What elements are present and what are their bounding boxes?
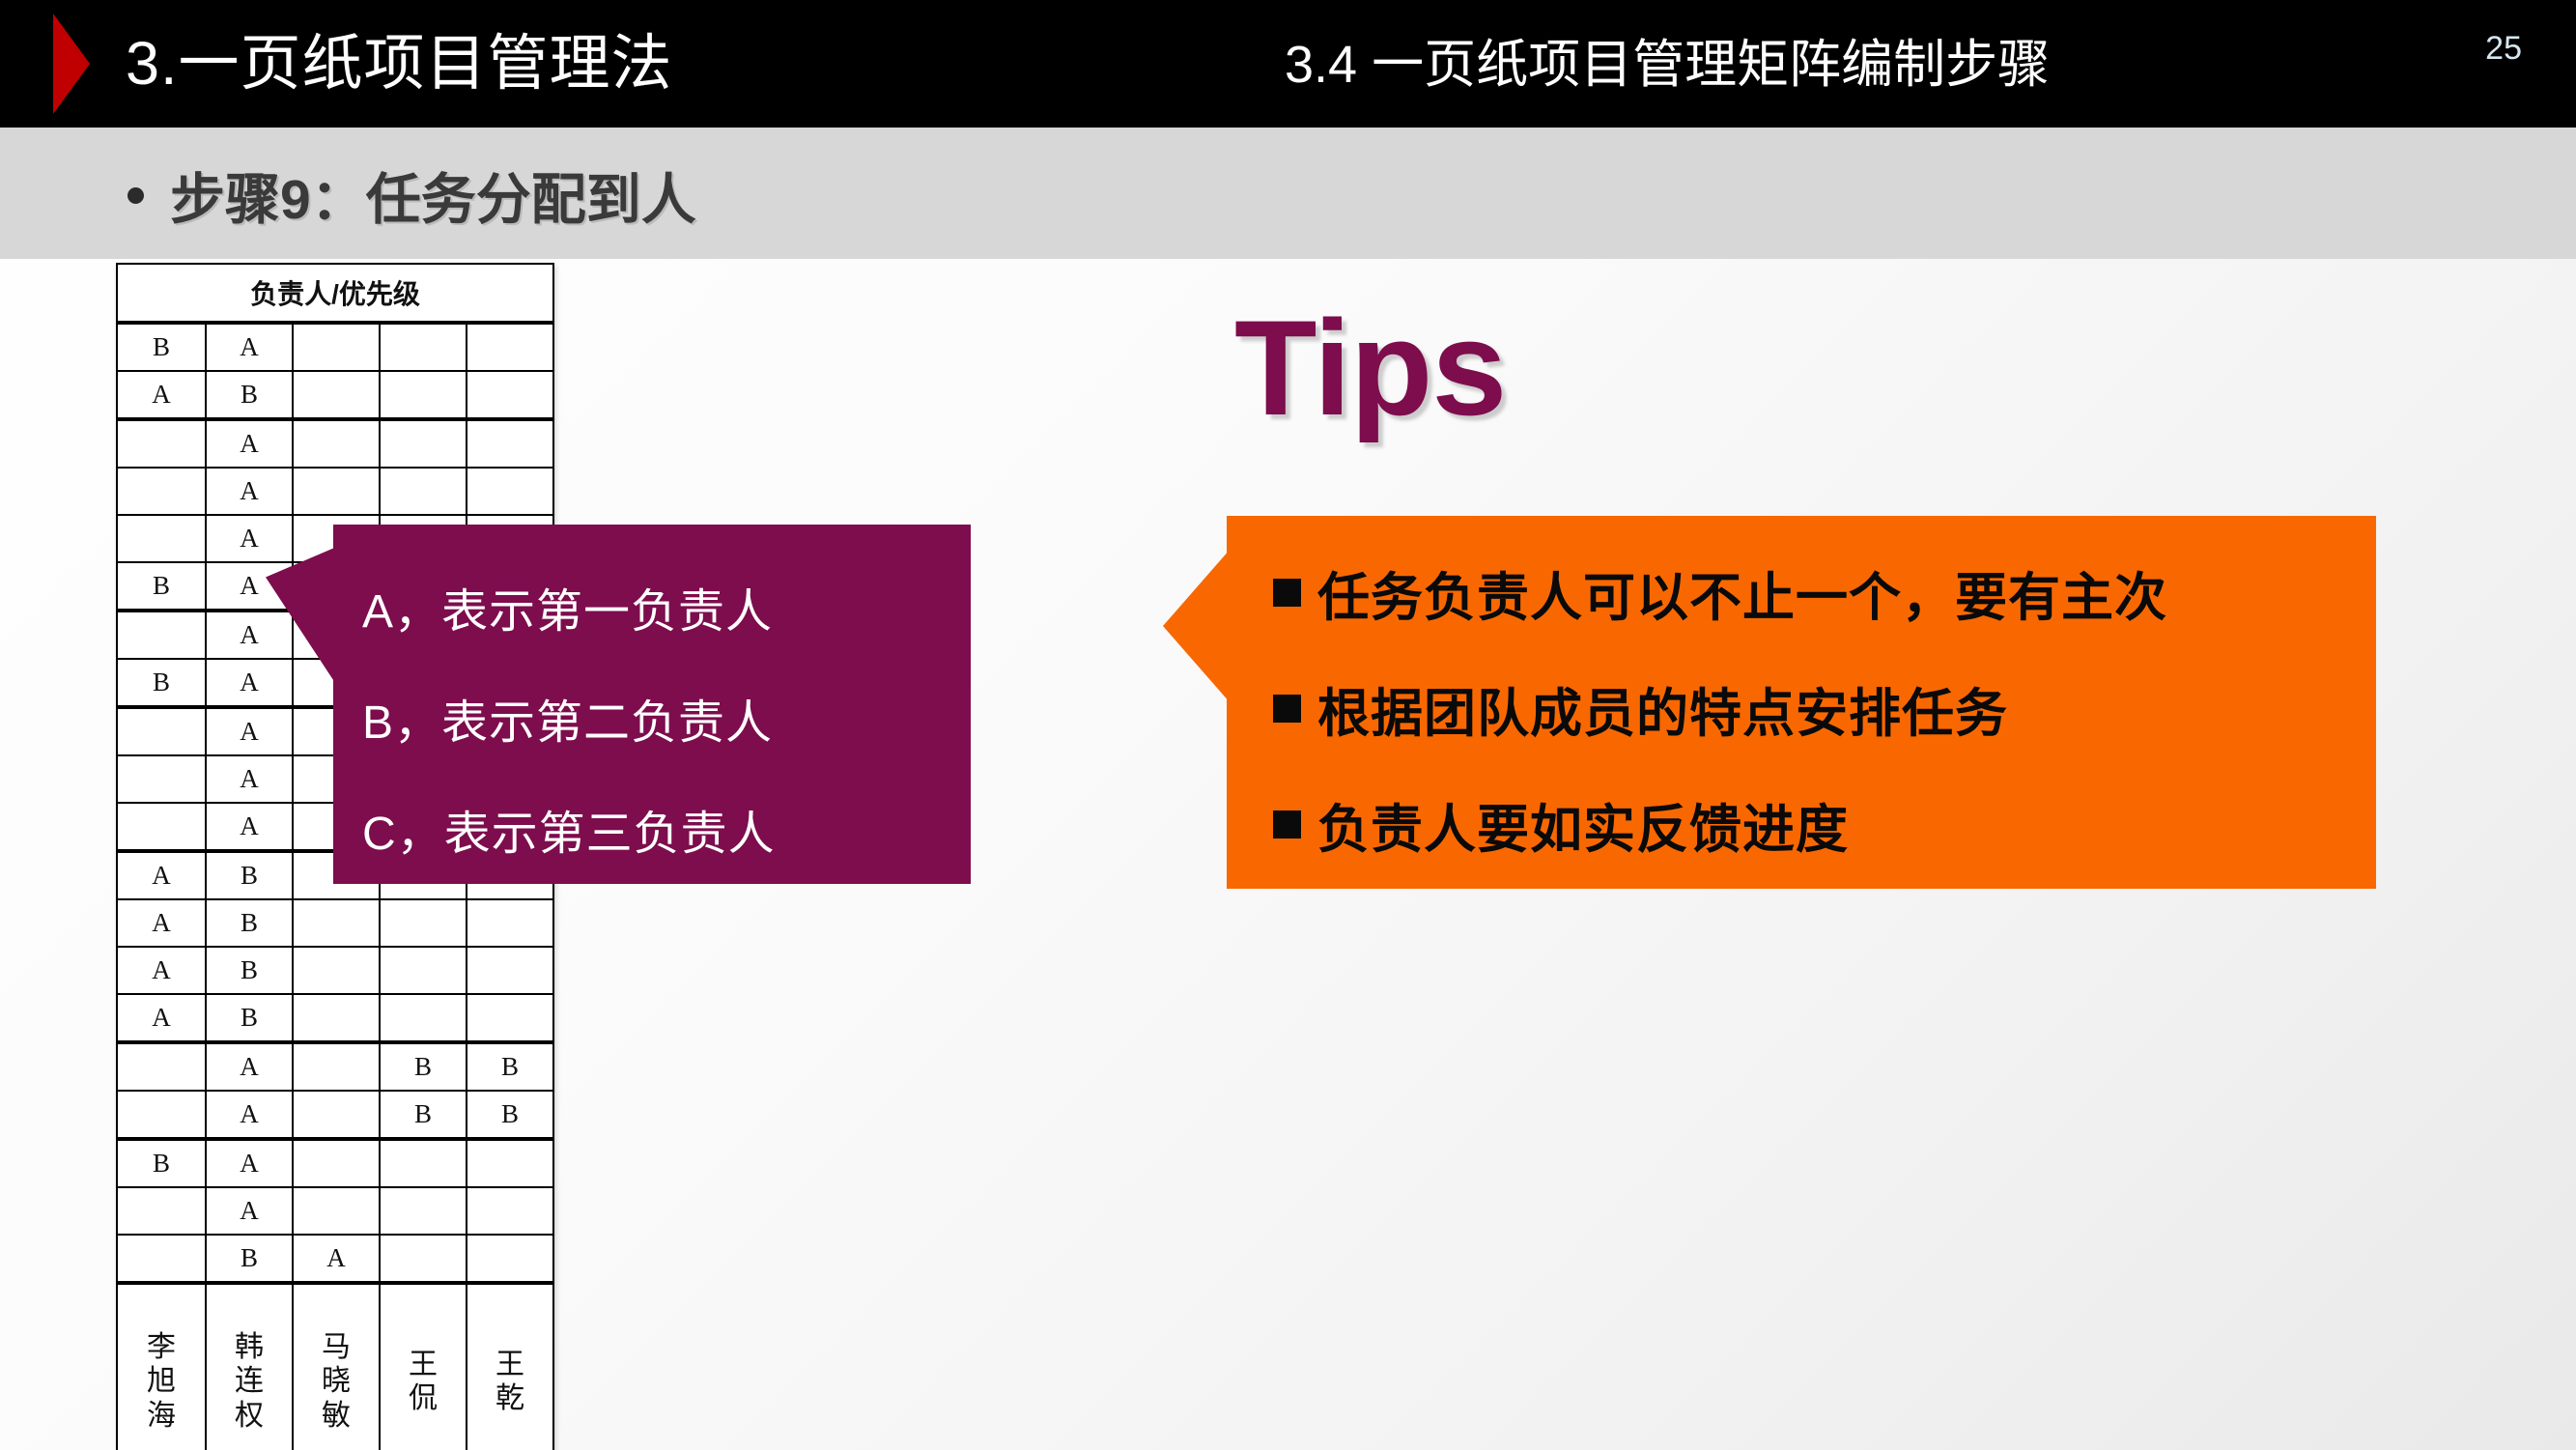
matrix-cell: A — [206, 1187, 293, 1235]
matrix-cell: B — [206, 371, 293, 419]
matrix-cell — [467, 1235, 553, 1283]
matrix-row: BA — [117, 1139, 553, 1187]
slide-canvas: 3.一页纸项目管理法 3.4 一页纸项目管理矩阵编制步骤 25 步骤9：任务分配… — [0, 0, 2576, 1450]
matrix-cell — [117, 1235, 206, 1283]
matrix-row: AB — [117, 899, 553, 947]
header-section-subtitle: 3.4 一页纸项目管理矩阵编制步骤 — [1285, 19, 2050, 110]
matrix-cell: B — [467, 1042, 553, 1091]
legend-line-c: C，表示第三负责人 — [362, 795, 776, 863]
matrix-cell — [380, 419, 467, 468]
matrix-row: AB — [117, 994, 553, 1042]
matrix-cell — [467, 1187, 553, 1235]
matrix-row: ABB — [117, 1042, 553, 1091]
matrix-row: AB — [117, 371, 553, 419]
matrix-row: BA — [117, 1235, 553, 1283]
matrix-owner-name: 李旭海 — [117, 1283, 206, 1450]
matrix-cell — [117, 1042, 206, 1091]
matrix-cell — [380, 947, 467, 994]
tip-item-3: 负责人要如实反馈进度 — [1273, 786, 1849, 863]
matrix-cell: A — [206, 707, 293, 755]
matrix-cell — [117, 515, 206, 562]
header-title: 3.一页纸项目管理法 — [126, 14, 673, 114]
matrix-cell — [467, 899, 553, 947]
matrix-cell — [293, 371, 380, 419]
matrix-cell: B — [117, 323, 206, 371]
step-heading: 步骤9：任务分配到人 — [127, 147, 696, 243]
matrix-header-label: 负责人/优先级 — [117, 264, 553, 323]
matrix-cell — [117, 755, 206, 803]
matrix-cell: A — [117, 371, 206, 419]
matrix-cell — [380, 1139, 467, 1187]
matrix-cell — [117, 1187, 206, 1235]
bullet-dot-icon — [127, 187, 144, 204]
matrix-cell — [117, 803, 206, 851]
legend-line-b: B，表示第二负责人 — [362, 684, 773, 752]
matrix-cell: A — [117, 994, 206, 1042]
matrix-cell: B — [117, 562, 206, 611]
matrix-cell: A — [206, 323, 293, 371]
tip-item-3-label: 负责人要如实反馈进度 — [1317, 786, 1849, 863]
matrix-cell: A — [206, 1139, 293, 1187]
matrix-cell — [293, 1091, 380, 1139]
matrix-cell — [293, 323, 380, 371]
header-arrow-icon — [53, 14, 90, 114]
matrix-cell: B — [206, 947, 293, 994]
matrix-row: AB — [117, 947, 553, 994]
slide-number: 25 — [2485, 29, 2522, 68]
matrix-cell — [117, 1091, 206, 1139]
matrix-cell — [293, 468, 380, 515]
matrix-cell — [380, 1235, 467, 1283]
matrix-cell — [293, 994, 380, 1042]
matrix-cell: B — [206, 899, 293, 947]
matrix-cell — [293, 899, 380, 947]
matrix-cell — [380, 323, 467, 371]
square-bullet-icon — [1273, 695, 1301, 723]
matrix-cell: A — [117, 947, 206, 994]
matrix-cell: B — [380, 1042, 467, 1091]
matrix-row: ABB — [117, 1091, 553, 1139]
matrix-cell — [380, 994, 467, 1042]
slide-header-bar: 3.一页纸项目管理法 3.4 一页纸项目管理矩阵编制步骤 25 — [0, 0, 2576, 128]
matrix-cell: B — [117, 1139, 206, 1187]
matrix-cell: A — [206, 755, 293, 803]
matrix-row: A — [117, 1187, 553, 1235]
matrix-cell: A — [206, 1091, 293, 1139]
tip-item-2: 根据团队成员的特点安排任务 — [1273, 670, 2008, 747]
matrix-names-row: 李旭海韩连权马晓敏王侃王乾 — [117, 1283, 553, 1450]
matrix-cell: A — [117, 899, 206, 947]
matrix-row: BA — [117, 323, 553, 371]
matrix-cell: A — [206, 419, 293, 468]
square-bullet-icon — [1273, 810, 1301, 839]
matrix-cell — [380, 899, 467, 947]
matrix-cell — [380, 468, 467, 515]
square-bullet-icon — [1273, 579, 1301, 607]
matrix-cell: A — [206, 611, 293, 659]
tips-box: 任务负责人可以不止一个，要有主次 根据团队成员的特点安排任务 负责人要如实反馈进… — [1227, 516, 2376, 889]
matrix-cell — [380, 371, 467, 419]
matrix-cell: A — [206, 515, 293, 562]
matrix-cell: B — [380, 1091, 467, 1139]
tip-item-1: 任务负责人可以不止一个，要有主次 — [1273, 554, 2167, 631]
matrix-cell: B — [206, 851, 293, 899]
tip-item-2-label: 根据团队成员的特点安排任务 — [1317, 670, 2008, 747]
matrix-cell — [117, 468, 206, 515]
matrix-cell — [117, 419, 206, 468]
tip-item-1-label: 任务负责人可以不止一个，要有主次 — [1317, 554, 2167, 631]
matrix-cell — [293, 419, 380, 468]
tips-box-tail-icon — [1163, 549, 1231, 703]
matrix-cell: A — [117, 851, 206, 899]
matrix-cell — [293, 1139, 380, 1187]
matrix-owner-name: 王乾 — [467, 1283, 553, 1450]
matrix-owner-name: 马晓敏 — [293, 1283, 380, 1450]
matrix-cell: A — [206, 803, 293, 851]
matrix-cell — [467, 468, 553, 515]
matrix-row: A — [117, 468, 553, 515]
matrix-cell: B — [467, 1091, 553, 1139]
tips-heading: Tips — [1234, 290, 1506, 446]
matrix-cell — [467, 947, 553, 994]
matrix-owner-name: 韩连权 — [206, 1283, 293, 1450]
matrix-cell — [467, 419, 553, 468]
matrix-cell — [117, 611, 206, 659]
matrix-cell — [293, 947, 380, 994]
matrix-cell — [467, 323, 553, 371]
matrix-cell — [467, 994, 553, 1042]
matrix-cell: B — [206, 1235, 293, 1283]
matrix-cell: B — [206, 994, 293, 1042]
matrix-cell: A — [206, 659, 293, 707]
matrix-cell: B — [117, 659, 206, 707]
matrix-cell — [467, 371, 553, 419]
matrix-owner-name: 王侃 — [380, 1283, 467, 1450]
matrix-cell: A — [206, 468, 293, 515]
matrix-cell — [117, 707, 206, 755]
matrix-cell — [467, 1139, 553, 1187]
matrix-cell — [293, 1042, 380, 1091]
matrix-cell — [380, 1187, 467, 1235]
step-heading-label: 步骤9：任务分配到人 — [170, 156, 696, 235]
matrix-row: A — [117, 419, 553, 468]
legend-callout: A，表示第一负责人 B，表示第二负责人 C，表示第三负责人 — [333, 525, 971, 884]
legend-line-a: A，表示第一负责人 — [362, 573, 773, 640]
matrix-cell: A — [206, 1042, 293, 1091]
matrix-cell: A — [293, 1235, 380, 1283]
matrix-cell — [293, 1187, 380, 1235]
matrix-header-row: 负责人/优先级 — [117, 264, 553, 323]
